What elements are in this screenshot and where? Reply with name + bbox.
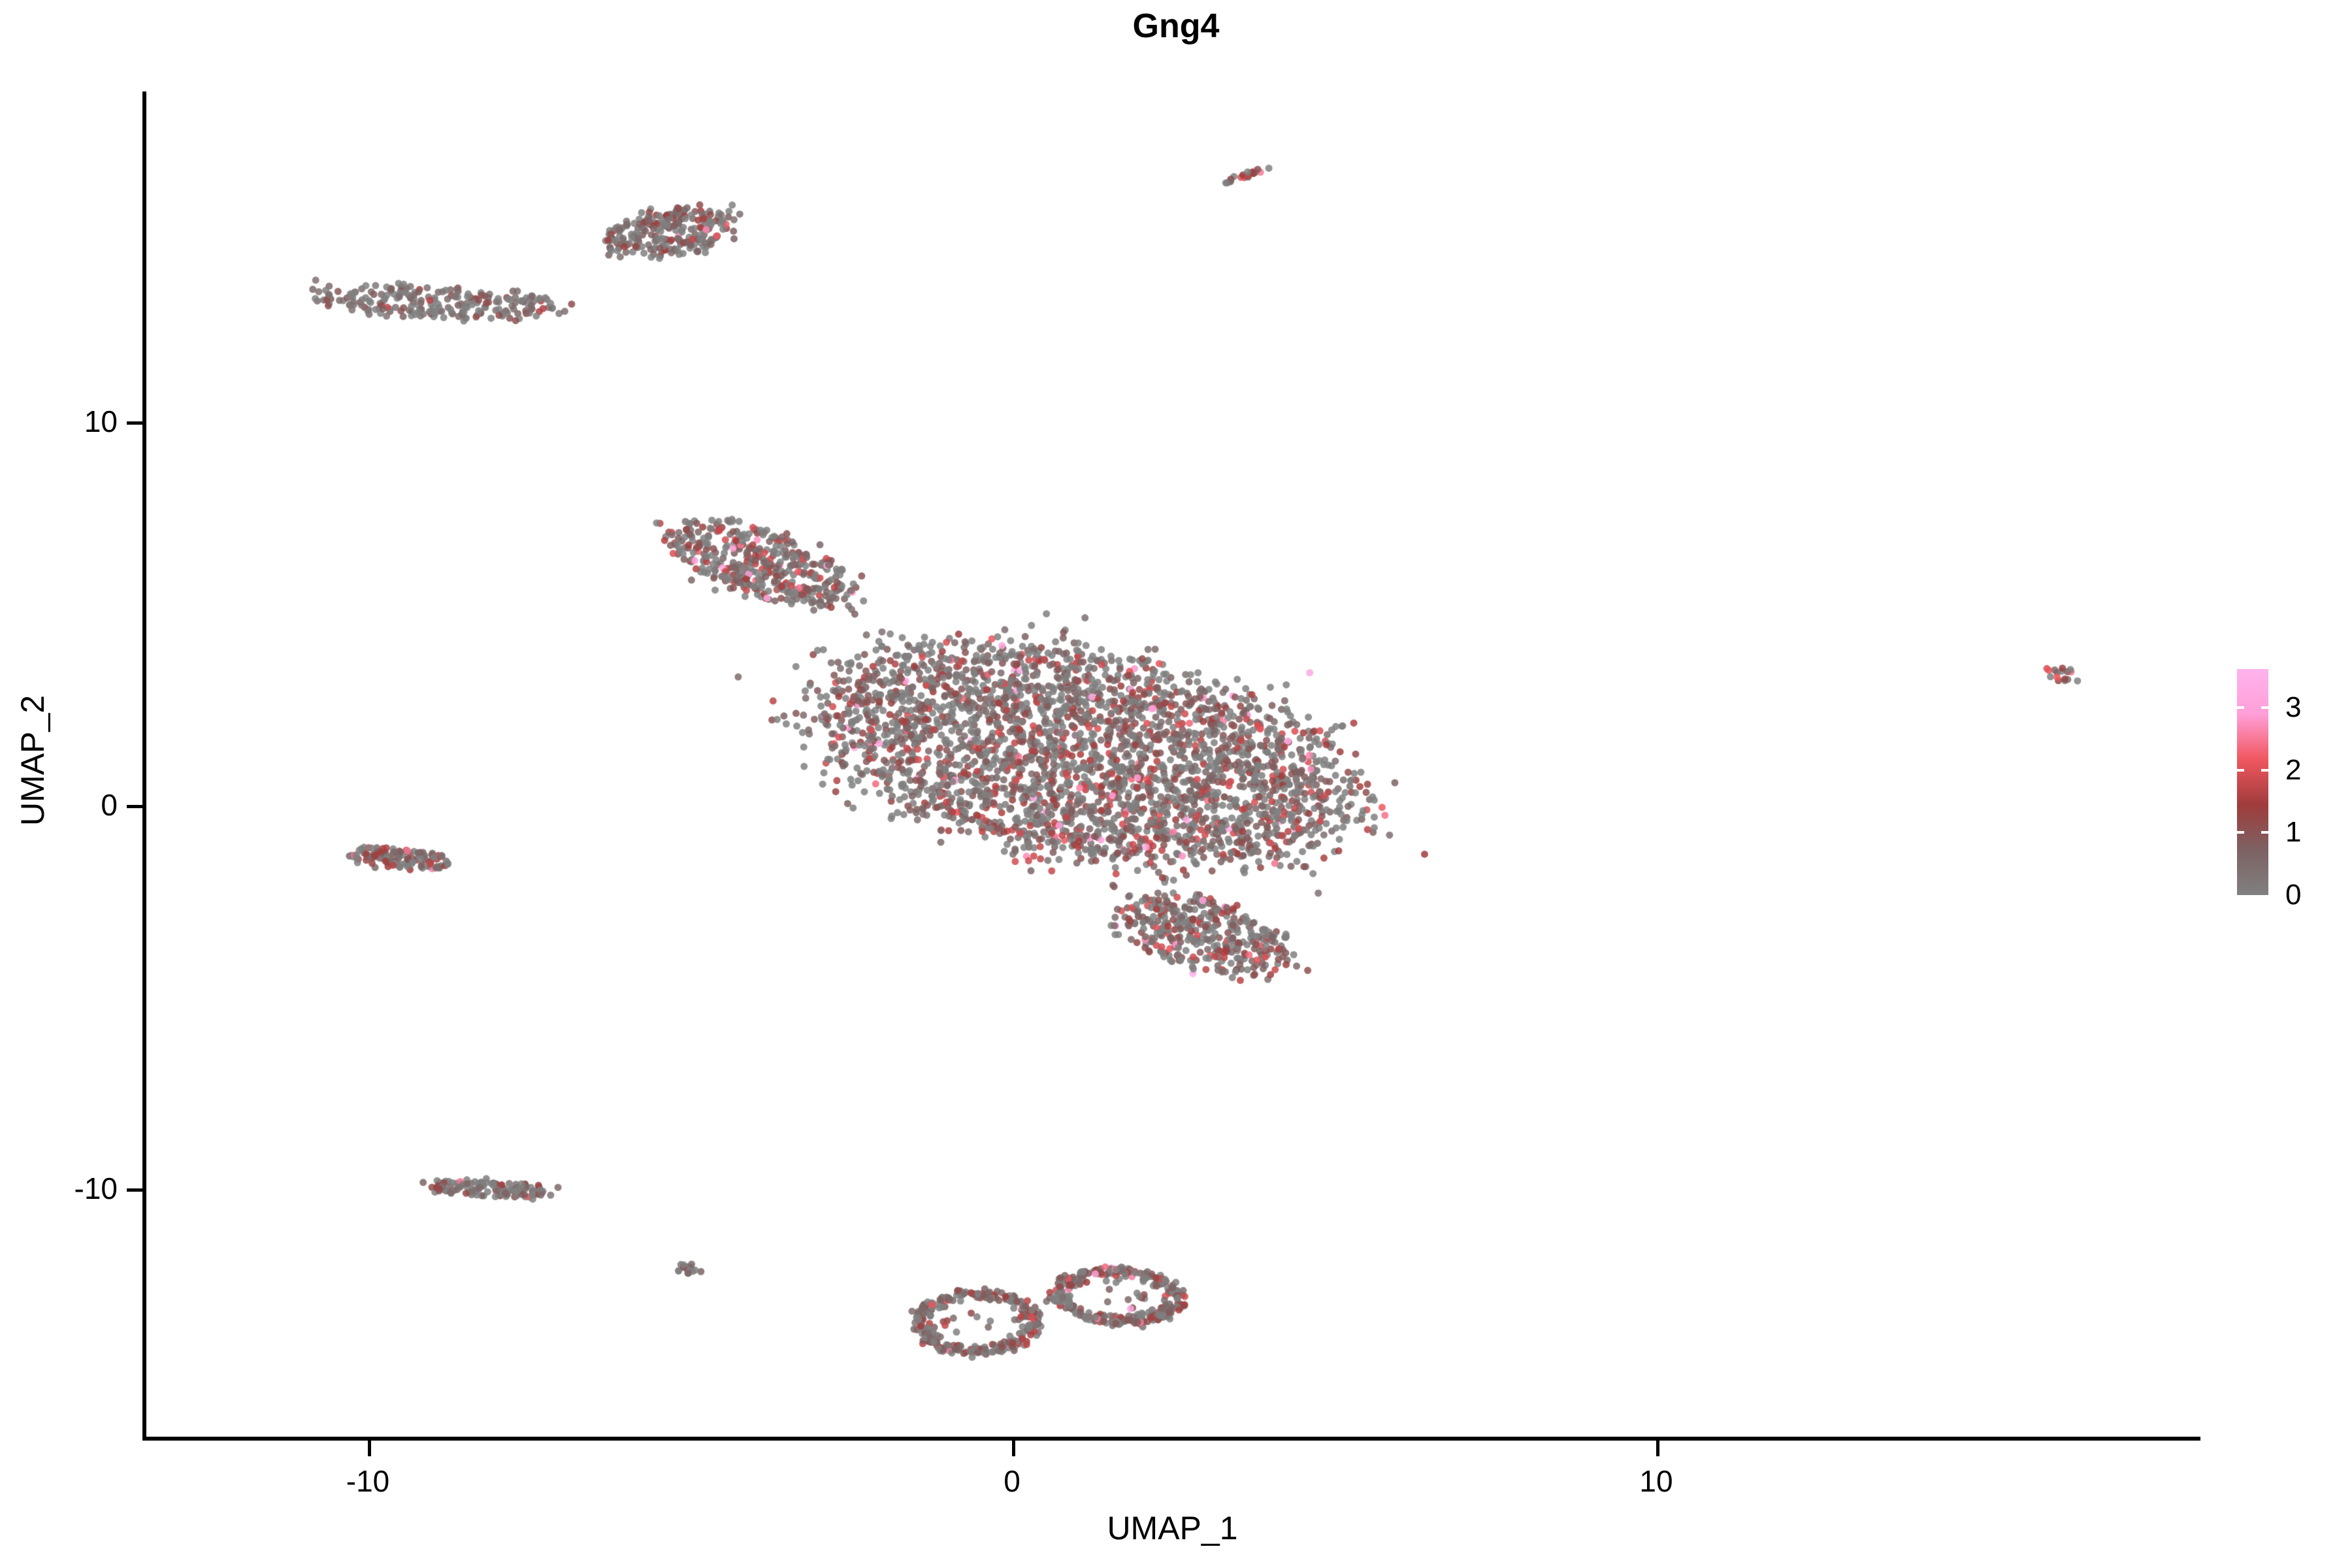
x-axis-tick-neg10: [368, 1441, 371, 1456]
y-axis-tick-label-10: 10: [84, 404, 118, 439]
y-axis-tick-0: [127, 805, 142, 808]
color-legend-gradient-bar: [2237, 669, 2268, 895]
scatter-point-layer: [0, 0, 2352, 1568]
y-axis-tick-label-0: 0: [101, 787, 118, 823]
y-axis-tick-neg10: [127, 1188, 142, 1192]
umap-feature-plot: Gng4 10 0 -10 -10 0 10 UMAP_1 UMAP_2 3 2…: [0, 0, 2352, 1568]
color-legend: 3 2 1 0: [2237, 669, 2342, 898]
x-axis-tick-10: [1656, 1441, 1659, 1456]
y-axis-tick-10: [127, 421, 142, 425]
x-axis-tick-0: [1012, 1441, 1015, 1456]
x-axis-tick-label-neg10: -10: [346, 1463, 389, 1499]
y-axis-tick-label-neg10: -10: [74, 1171, 118, 1206]
x-axis-tick-label-10: 10: [1639, 1463, 1673, 1499]
x-axis-title: UMAP_1: [144, 1509, 2200, 1547]
legend-label-2: 2: [2285, 754, 2301, 787]
x-axis-tick-label-0: 0: [1004, 1463, 1021, 1499]
page-title: Gng4: [0, 7, 2352, 46]
y-axis-title: UMAP_2: [14, 401, 52, 1120]
legend-label-0: 0: [2285, 879, 2301, 911]
x-axis-line: [144, 1437, 2200, 1441]
y-axis-line: [142, 91, 146, 1441]
legend-label-3: 3: [2285, 691, 2301, 724]
legend-label-1: 1: [2285, 816, 2301, 849]
